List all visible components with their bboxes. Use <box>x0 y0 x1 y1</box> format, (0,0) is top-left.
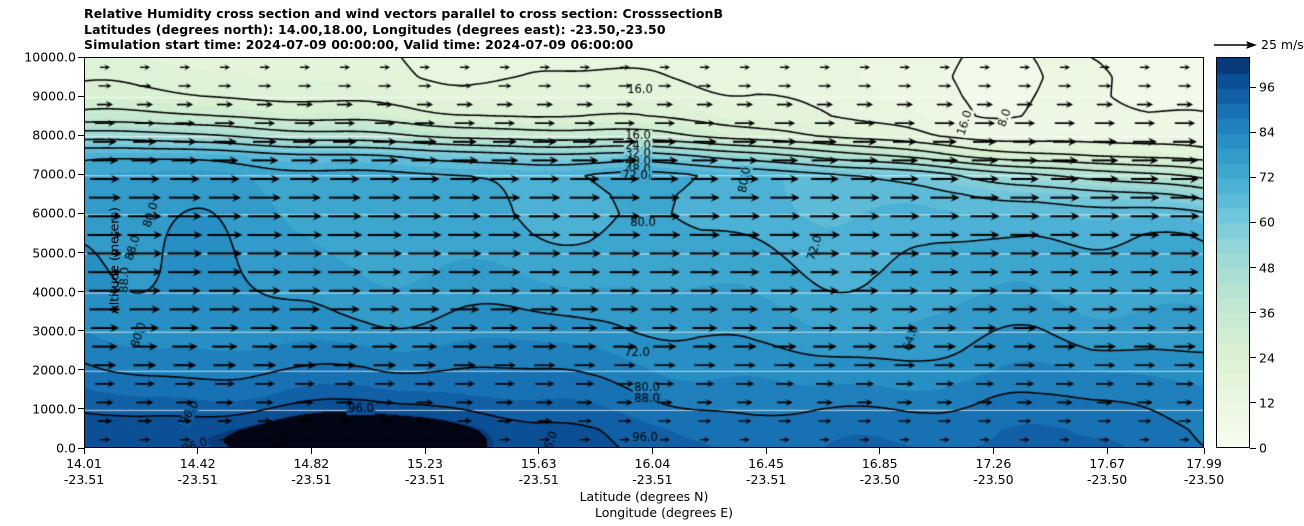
y-axis-tick-mark <box>78 291 84 292</box>
colorbar-tick-label: 72 <box>1259 170 1275 185</box>
x-tick-latitude: 14.01 <box>64 456 104 472</box>
colorbar-tick-mark <box>1250 402 1256 403</box>
x-tick-latitude: 14.82 <box>291 456 331 472</box>
x-axis-tick-mark <box>652 448 653 454</box>
x-tick-longitude: -23.51 <box>746 472 786 488</box>
x-tick-latitude: 17.99 <box>1184 456 1224 472</box>
y-axis-tick-mark <box>78 135 84 136</box>
x-axis-label-latitude: Latitude (degrees N) <box>404 489 884 504</box>
x-tick-latitude: 14.42 <box>178 456 218 472</box>
colorbar-tick-mark <box>1250 222 1256 223</box>
y-axis-tick-label: 10000.0 <box>24 50 76 65</box>
y-axis-tick-label: 9000.0 <box>32 89 76 104</box>
reference-vector-label: 25 m/s <box>1261 37 1304 52</box>
x-tick-longitude: -23.51 <box>405 472 445 488</box>
colorbar-tick-label: 24 <box>1259 350 1275 365</box>
x-tick-latitude: 15.63 <box>519 456 559 472</box>
colorbar-gradient <box>1217 58 1249 447</box>
x-axis-tick-mark <box>538 448 539 454</box>
y-axis-tick-label: 7000.0 <box>32 167 76 182</box>
x-tick-longitude: -23.51 <box>64 472 104 488</box>
y-axis-tick-label: 1000.0 <box>32 401 76 416</box>
x-axis-tick-mark <box>766 448 767 454</box>
x-axis-tick-mark <box>879 448 880 454</box>
colorbar-tick-label: 0 <box>1259 441 1267 456</box>
x-tick-longitude: -23.51 <box>291 472 331 488</box>
y-axis-tick-mark <box>78 408 84 409</box>
colorbar-tick-label: 60 <box>1259 215 1275 230</box>
y-axis-tick-mark <box>78 330 84 331</box>
x-axis-tick-label: 16.04-23.51 <box>632 456 672 488</box>
y-axis-tick-label: 2000.0 <box>32 362 76 377</box>
colorbar-tick-label: 36 <box>1259 305 1275 320</box>
x-axis-tick-label: 17.26-23.50 <box>973 456 1013 488</box>
y-axis-tick-mark <box>78 252 84 253</box>
x-axis-tick-label: 14.01-23.51 <box>64 456 104 488</box>
x-tick-latitude: 17.26 <box>973 456 1013 472</box>
x-axis-label-longitude: Longitude (degrees E) <box>424 505 904 520</box>
colorbar-tick-mark <box>1250 267 1256 268</box>
x-axis-tick-label: 14.42-23.51 <box>178 456 218 488</box>
x-axis-tick-label: 17.99-23.50 <box>1184 456 1224 488</box>
x-tick-latitude: 16.04 <box>632 456 672 472</box>
reference-arrow-icon <box>1213 38 1259 52</box>
x-axis-tick-label: 15.23-23.51 <box>405 456 445 488</box>
x-axis-tick-label: 17.67-23.50 <box>1087 456 1127 488</box>
x-tick-latitude: 15.23 <box>405 456 445 472</box>
figure-root: Relative Humidity cross section and wind… <box>0 0 1304 526</box>
y-axis-tick-label: 0.0 <box>56 441 76 456</box>
title-line-1: Relative Humidity cross section and wind… <box>84 6 1204 22</box>
y-axis-tick-label: 6000.0 <box>32 206 76 221</box>
x-tick-longitude: -23.50 <box>973 472 1013 488</box>
x-axis-tick-mark <box>1107 448 1108 454</box>
colorbar-tick-mark <box>1250 312 1256 313</box>
colorbar-tick-label: 96 <box>1259 80 1275 95</box>
x-axis-tick-mark <box>311 448 312 454</box>
x-axis-tick-mark <box>84 448 85 454</box>
x-tick-longitude: -23.51 <box>178 472 218 488</box>
y-axis-tick-mark <box>78 213 84 214</box>
y-axis-tick-label: 5000.0 <box>32 245 76 260</box>
humidity-contour-canvas <box>85 58 1204 448</box>
x-tick-longitude: -23.51 <box>519 472 559 488</box>
cross-section-plot <box>84 57 1204 448</box>
y-axis-tick-label: 4000.0 <box>32 284 76 299</box>
x-tick-latitude: 17.67 <box>1087 456 1127 472</box>
title-line-3: Simulation start time: 2024-07-09 00:00:… <box>84 37 1204 53</box>
colorbar <box>1216 57 1250 448</box>
x-axis-tick-label: 14.82-23.51 <box>291 456 331 488</box>
title-line-2: Latitudes (degrees north): 14.00,18.00, … <box>84 22 1204 38</box>
x-axis-tick-mark <box>425 448 426 454</box>
colorbar-tick-label: 48 <box>1259 260 1275 275</box>
x-tick-longitude: -23.50 <box>1087 472 1127 488</box>
colorbar-tick-label: 84 <box>1259 125 1275 140</box>
x-axis-tick-label: 16.85-23.50 <box>860 456 900 488</box>
reference-vector-legend: 25 m/s <box>1213 36 1304 56</box>
x-axis-tick-mark <box>197 448 198 454</box>
x-tick-latitude: 16.85 <box>860 456 900 472</box>
x-tick-longitude: -23.51 <box>632 472 672 488</box>
figure-title: Relative Humidity cross section and wind… <box>84 6 1204 53</box>
y-axis-tick-label: 8000.0 <box>32 128 76 143</box>
colorbar-tick-mark <box>1250 357 1256 358</box>
y-axis-label: Altitude (meters) <box>107 141 122 381</box>
colorbar-tick-mark <box>1250 448 1256 449</box>
colorbar-tick-mark <box>1250 87 1256 88</box>
y-axis-tick-mark <box>78 369 84 370</box>
y-axis-tick-mark <box>78 174 84 175</box>
x-axis-tick-mark <box>993 448 994 454</box>
colorbar-tick-mark <box>1250 132 1256 133</box>
y-axis-tick-mark <box>78 96 84 97</box>
x-tick-longitude: -23.50 <box>860 472 900 488</box>
x-axis-tick-label: 15.63-23.51 <box>519 456 559 488</box>
colorbar-tick-label: 12 <box>1259 395 1275 410</box>
x-axis-tick-label: 16.45-23.51 <box>746 456 786 488</box>
colorbar-tick-mark <box>1250 177 1256 178</box>
x-tick-latitude: 16.45 <box>746 456 786 472</box>
y-axis-tick-mark <box>78 57 84 58</box>
x-tick-longitude: -23.50 <box>1184 472 1224 488</box>
y-axis-tick-label: 3000.0 <box>32 323 76 338</box>
x-axis-tick-mark <box>1204 448 1205 454</box>
